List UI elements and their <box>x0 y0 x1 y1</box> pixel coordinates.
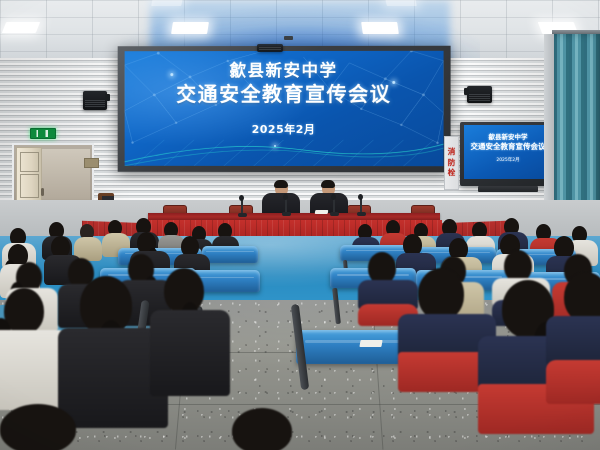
microphone <box>285 198 287 213</box>
side-tv-monitor[interactable]: 歙县新安中学 交通安全教育宣传会议 2025年2月 <box>460 122 556 186</box>
side-monitor-line2: 交通安全教育宣传会议 <box>464 142 552 151</box>
door-notice-plate <box>84 158 99 168</box>
side-monitor-line1: 歙县新安中学 <box>464 134 552 142</box>
sign-char: 消 <box>448 147 456 158</box>
student-torso <box>546 316 600 366</box>
wall-speaker-left <box>83 91 107 110</box>
sign-char: 栓 <box>448 168 456 179</box>
student-head <box>564 272 600 322</box>
monitor-base <box>478 186 538 192</box>
microphone-base <box>330 212 339 216</box>
microphone <box>241 199 243 214</box>
student-head <box>232 408 292 450</box>
speaker-hair <box>274 180 288 188</box>
auditorium-seat[interactable] <box>202 246 258 263</box>
side-monitor-screen: 歙县新安中学 交通安全教育宣传会议 2025年2月 <box>464 125 552 179</box>
auditorium-photo: 歙县新安中学 交通安全教育宣传会议 2025年2月 歙县新安中学 交通安全教育宣… <box>0 0 600 450</box>
screen-title-line1: 歙县新安中学 <box>125 61 444 81</box>
ceiling-light-panel <box>385 0 417 6</box>
ceiling-light-panel <box>171 22 209 34</box>
document-on-table <box>315 210 329 214</box>
fire-hydrant-sign: 消 防 栓 <box>444 136 459 190</box>
side-monitor-date: 2025年2月 <box>464 158 552 163</box>
screen-title-line2: 交通安全教育宣传会议 <box>125 83 444 107</box>
microphone-base <box>238 213 247 217</box>
handout-paper <box>359 340 382 347</box>
ceiling-sensor-icon <box>284 36 293 40</box>
ceiling-light-panel <box>151 0 183 6</box>
speaker-hair <box>321 180 335 188</box>
student-torso-stripe <box>546 360 600 404</box>
wall-speaker-right <box>467 86 492 103</box>
sign-char: 防 <box>448 158 456 169</box>
ceiling-light-panel <box>2 22 40 33</box>
student-head <box>0 404 76 450</box>
microphone-base <box>282 212 291 216</box>
led-wall-frame: 歙县新安中学 交通安全教育宣传会议 2025年2月 <box>118 46 451 172</box>
screen-date: 2025年2月 <box>125 124 444 137</box>
side-monitor-text-block: 歙县新安中学 交通安全教育宣传会议 2025年2月 <box>464 134 552 163</box>
auditorium-seat[interactable] <box>296 330 412 364</box>
screen-text-block: 歙县新安中学 交通安全教育宣传会议 2025年2月 <box>125 61 444 137</box>
exit-sign-left <box>30 128 56 139</box>
microphone <box>360 198 362 213</box>
door-handle-icon[interactable] <box>41 188 44 196</box>
top-wall-speaker <box>257 44 283 52</box>
led-wall-display[interactable]: 歙县新安中学 交通安全教育宣传会议 2025年2月 <box>125 51 444 166</box>
ceiling-light-panel <box>361 22 399 34</box>
microphone <box>333 198 335 213</box>
student-torso <box>150 310 230 396</box>
student-head <box>418 268 464 320</box>
microphone-base <box>357 212 366 216</box>
